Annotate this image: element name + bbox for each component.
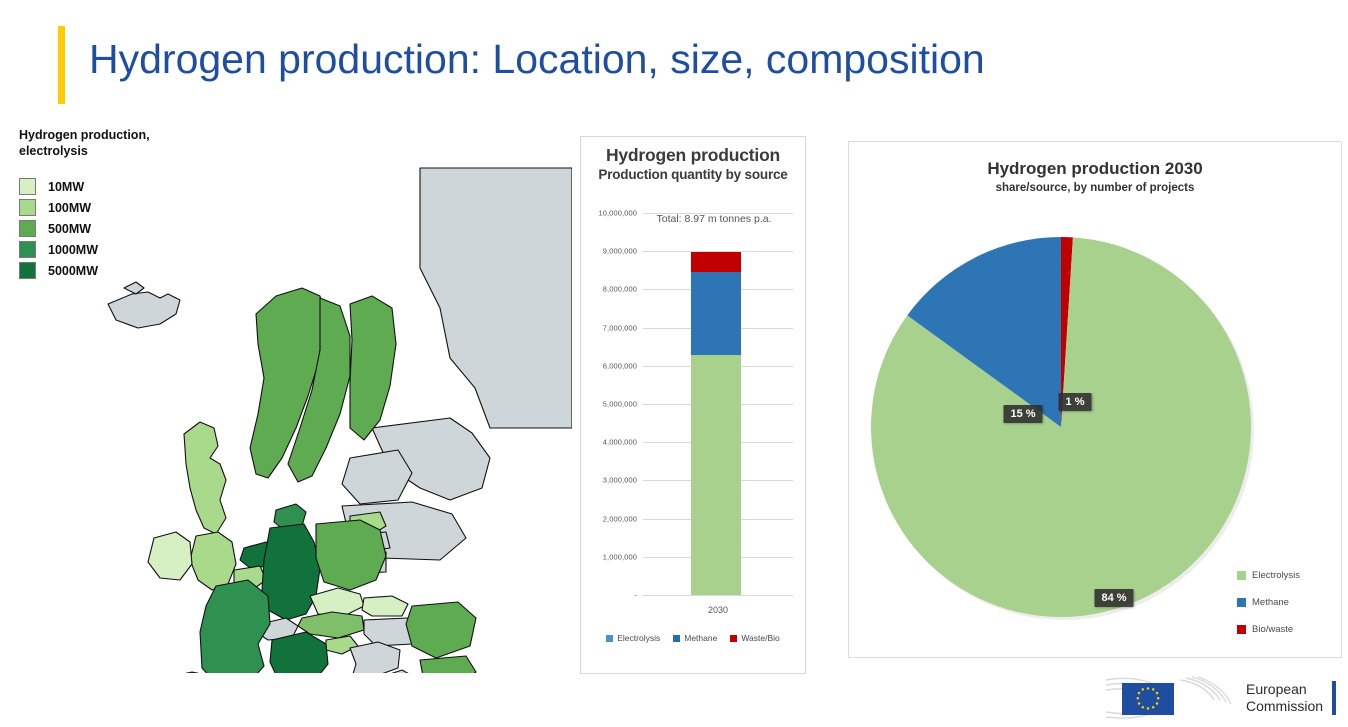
bar-y-tick-label: 8,000,000 xyxy=(581,285,637,294)
eu-flag-icon xyxy=(1104,674,1236,722)
bar-segment-electrolysis[interactable] xyxy=(691,355,741,595)
bar-chart-bar-2030[interactable] xyxy=(691,252,741,595)
legend-swatch-5000mw xyxy=(19,262,36,279)
pie-data-label-bio-waste: 1 % xyxy=(1059,393,1092,411)
pie-legend-item-bio-waste[interactable]: Bio/waste xyxy=(1237,616,1333,643)
bar-chart-annotation: Total: 8.97 m tonnes p.a. xyxy=(627,213,801,225)
bar-legend-label-waste-bio: Waste/Bio xyxy=(741,633,779,643)
ec-logo-line2: Commission xyxy=(1246,698,1323,715)
legend-swatch-500mw xyxy=(19,220,36,237)
map-svg xyxy=(20,128,572,673)
pie-legend-label-methane: Methane xyxy=(1252,597,1289,608)
pie-legend-item-methane[interactable]: Methane xyxy=(1237,589,1333,616)
legend-swatch-100mw xyxy=(19,199,36,216)
legend-label-1000mw: 1000MW xyxy=(48,243,98,257)
bar-legend-swatch-methane xyxy=(673,635,680,642)
legend-item-5000mw: 5000MW xyxy=(19,260,98,281)
legend-item-500mw: 500MW xyxy=(19,218,98,239)
bar-chart-plot: Total: 8.97 m tonnes p.a. -1,000,0002,00… xyxy=(581,199,805,599)
pie-chart-title: Hydrogen production 2030 xyxy=(849,159,1341,179)
legend-item-1000mw: 1000MW xyxy=(19,239,98,260)
pie-legend-label-bio-waste: Bio/waste xyxy=(1252,624,1293,635)
bar-legend-swatch-waste-bio xyxy=(730,635,737,642)
pie-legend-swatch-bio-waste xyxy=(1237,625,1246,634)
bar-segment-methane[interactable] xyxy=(691,272,741,355)
pie-chart-area: 84 % 15 % 1 % xyxy=(861,212,1261,632)
page-title: Hydrogen production: Location, size, com… xyxy=(58,26,985,104)
legend-swatch-1000mw xyxy=(19,241,36,258)
bar-segment-waste-bio[interactable] xyxy=(691,252,741,272)
page-title-text: Hydrogen production: Location, size, com… xyxy=(89,26,985,92)
ec-logo-line1: European xyxy=(1246,681,1323,698)
bar-legend-item-methane[interactable]: Methane xyxy=(673,633,717,643)
bar-y-tick-label: 9,000,000 xyxy=(581,247,637,256)
legend-label-5000mw: 5000MW xyxy=(48,264,98,278)
bar-y-tick-label: 5,000,000 xyxy=(581,400,637,409)
title-accent-bar xyxy=(58,26,65,104)
european-commission-logo: European Commission xyxy=(1104,672,1344,724)
map-legend-title: Hydrogen production, electrolysis xyxy=(19,127,194,159)
legend-label-100mw: 100MW xyxy=(48,201,91,215)
bar-y-tick-label: 7,000,000 xyxy=(581,323,637,332)
bar-y-tick-label: 3,000,000 xyxy=(581,476,637,485)
bar-chart-legend: Electrolysis Methane Waste/Bio xyxy=(581,633,805,643)
pie-chart-svg xyxy=(861,212,1261,632)
legend-swatch-10mw xyxy=(19,178,36,195)
bar-y-tick-label: 1,000,000 xyxy=(581,552,637,561)
bar-chart-subtitle: Production quantity by source xyxy=(581,167,805,182)
bar-y-tick-label: 6,000,000 xyxy=(581,361,637,370)
bar-y-tick-label: 4,000,000 xyxy=(581,438,637,447)
pie-chart-panel: Hydrogen production 2030 share/source, b… xyxy=(848,141,1342,658)
ec-logo-text: European Commission xyxy=(1246,681,1323,715)
pie-data-label-methane: 15 % xyxy=(1003,405,1042,423)
bar-y-tick-label: 10,000,000 xyxy=(581,209,637,218)
bar-legend-label-electrolysis: Electrolysis xyxy=(617,633,660,643)
map-legend-title-line2: electrolysis xyxy=(19,144,88,158)
map-legend-title-line1: Hydrogen production, xyxy=(19,128,150,142)
legend-label-500mw: 500MW xyxy=(48,222,91,236)
pie-legend-item-electrolysis[interactable]: Electrolysis xyxy=(1237,562,1333,589)
pie-legend-swatch-methane xyxy=(1237,598,1246,607)
bar-y-tick-label: 2,000,000 xyxy=(581,514,637,523)
pie-chart-legend: Electrolysis Methane Bio/waste xyxy=(1237,562,1333,643)
pie-data-label-electrolysis: 84 % xyxy=(1094,589,1133,607)
bar-y-tick-label: - xyxy=(581,591,637,600)
bar-legend-label-methane: Methane xyxy=(684,633,717,643)
legend-item-10mw: 10MW xyxy=(19,176,98,197)
bar-gridline xyxy=(643,213,793,214)
ec-logo-accent-bar xyxy=(1332,681,1336,715)
legend-item-100mw: 100MW xyxy=(19,197,98,218)
europe-choropleth-map xyxy=(20,128,572,673)
pie-chart-subtitle: share/source, by number of projects xyxy=(849,182,1341,194)
bar-legend-item-waste-bio[interactable]: Waste/Bio xyxy=(730,633,779,643)
bar-legend-item-electrolysis[interactable]: Electrolysis xyxy=(606,633,660,643)
bar-gridline xyxy=(643,595,793,596)
eu-flag-svg xyxy=(1104,674,1236,722)
legend-label-10mw: 10MW xyxy=(48,180,84,194)
bar-legend-swatch-electrolysis xyxy=(606,635,613,642)
pie-legend-swatch-electrolysis xyxy=(1237,571,1246,580)
bar-chart-x-tick-2030: 2030 xyxy=(643,605,793,615)
bar-chart-title: Hydrogen production xyxy=(581,145,805,166)
pie-legend-label-electrolysis: Electrolysis xyxy=(1252,570,1300,581)
map-legend: 10MW 100MW 500MW 1000MW 5000MW xyxy=(19,176,98,281)
bar-chart-panel: Hydrogen production Production quantity … xyxy=(580,136,806,674)
